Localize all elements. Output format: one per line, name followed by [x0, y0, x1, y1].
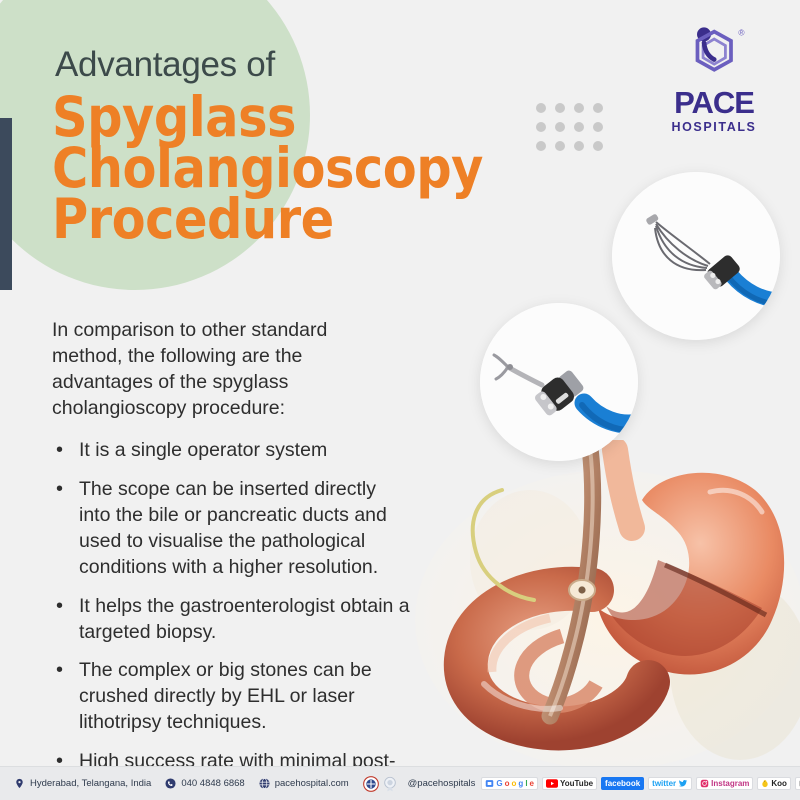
koo-icon [761, 779, 769, 788]
title-line-3: Procedure [52, 194, 612, 245]
google-icon [485, 779, 494, 788]
social-chip-google[interactable]: Google [481, 777, 538, 790]
footer-bar: Hyderabad, Telangana, India 040 4848 686… [0, 766, 800, 800]
footer-social-links: Google YouTube facebook twitter [481, 777, 800, 790]
footer-phone[interactable]: 040 4848 6868 [165, 778, 244, 789]
social-chip-youtube[interactable]: YouTube [542, 777, 597, 790]
infographic-poster: ® PACE HOSPITALS Advantages of Spyglass … [0, 0, 800, 800]
social-label-koo: Koo [771, 780, 787, 788]
pace-hospitals-logo: ® PACE HOSPITALS [656, 26, 772, 134]
endoscope-basket-icon [612, 172, 780, 340]
twitter-icon [678, 779, 688, 788]
hexagon-person-icon: ® [677, 26, 751, 80]
advantages-list: It is a single operator system The scope… [52, 438, 412, 800]
award-badge-icon [382, 776, 398, 792]
google-letter-e: e [530, 780, 534, 788]
globe-icon [259, 778, 270, 789]
youtube-icon [546, 779, 558, 788]
social-chip-twitter[interactable]: twitter [648, 777, 692, 790]
device-image-basket [612, 172, 780, 340]
list-item: The complex or big stones can be crushed… [52, 658, 412, 736]
svg-text:®: ® [738, 27, 745, 37]
social-chip-instagram[interactable]: Instagram [696, 777, 753, 790]
left-accent-bar [0, 118, 12, 290]
phone-icon [165, 778, 176, 789]
footer-website[interactable]: pacehospital.com [259, 778, 349, 789]
google-letter-l: l [525, 780, 527, 788]
intro-paragraph: In comparison to other standard method, … [52, 318, 382, 422]
social-chip-facebook[interactable]: facebook [601, 777, 644, 790]
endoscope-forceps-icon [480, 303, 638, 461]
footer-location-text: Hyderabad, Telangana, India [30, 778, 151, 789]
instagram-icon [700, 779, 709, 788]
logo-wordmark: PACE [656, 87, 772, 118]
map-pin-icon [14, 778, 25, 789]
logo-subtitle: HOSPITALS [656, 120, 772, 134]
device-image-forceps [480, 303, 638, 461]
google-letter-o1: o [505, 780, 510, 788]
kicker-text: Advantages of [55, 45, 275, 85]
google-letter-g2: g [518, 780, 523, 788]
footer-social-handle: @pacehospitals [408, 778, 476, 789]
google-letter-g: G [496, 780, 502, 788]
social-chip-koo[interactable]: Koo [757, 777, 791, 790]
list-item: It helps the gastroenterologist obtain a… [52, 594, 412, 646]
footer-badges [363, 776, 398, 792]
social-label-instagram: Instagram [711, 780, 749, 788]
google-letter-o2: o [512, 780, 517, 788]
footer-location: Hyderabad, Telangana, India [14, 778, 151, 789]
page-title: Spyglass Cholangioscopy Procedure [52, 92, 612, 245]
social-label-facebook: facebook [605, 780, 640, 788]
footer-phone-text: 040 4848 6868 [181, 778, 244, 789]
list-item: It is a single operator system [52, 438, 412, 464]
anatomy-illustration [410, 440, 800, 770]
social-chip-threads[interactable]: Threads [795, 777, 800, 790]
accreditation-badge-icon [363, 776, 379, 792]
social-label-twitter: twitter [652, 780, 676, 788]
list-item: The scope can be inserted directly into … [52, 477, 412, 581]
social-label-youtube: YouTube [560, 780, 593, 788]
footer-website-text: pacehospital.com [275, 778, 349, 789]
